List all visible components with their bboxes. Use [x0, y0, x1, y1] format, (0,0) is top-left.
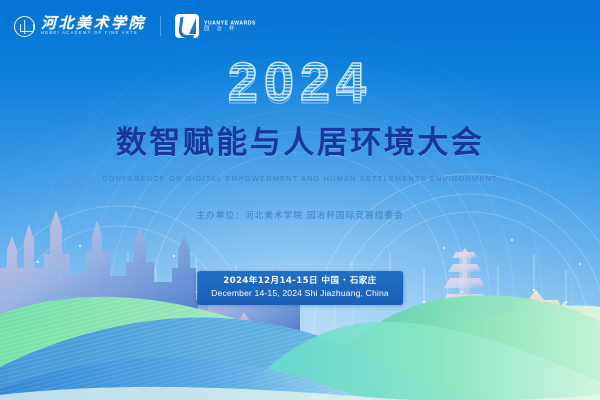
date-location-cn: 2024年12月14-15日 中国 · 石家庄: [211, 275, 389, 287]
page-subtitle-en: CONFERENCE ON DIGITAL EMPOWERMENT AND HU…: [0, 174, 600, 184]
header-logo-bar: 河北美术学院 HEBEI ACADEMY OF FINE ARTS YUANYE…: [0, 0, 600, 52]
yuanye-award-mark-icon: [175, 14, 199, 38]
academy-seal-icon: [14, 16, 35, 37]
date-location-badge: 2024年12月14-15日 中国 · 石家庄 December 14-15, …: [197, 271, 403, 305]
hebei-academy-logo[interactable]: 河北美术学院 HEBEI ACADEMY OF FINE ARTS: [14, 16, 146, 37]
year-heading: 2024 2024 2024 2024: [0, 52, 600, 114]
academy-name-cn: 河北美术学院: [41, 16, 146, 31]
yuanye-name-cn: 园 冶 杯: [204, 27, 256, 32]
academy-name-en: HEBEI ACADEMY OF FINE ARTS: [41, 32, 165, 36]
page-title: 数智赋能与人居环境大会: [0, 124, 600, 163]
conference-banner: 河北美术学院 HEBEI ACADEMY OF FINE ARTS YUANYE…: [0, 0, 600, 400]
svg-text:2024: 2024: [228, 55, 372, 114]
year-striped-art: 2024 2024 2024: [0, 52, 600, 114]
date-location-en: December 14-15, 2024 Shi Jiazhuang, Chin…: [211, 287, 389, 299]
yuanye-award-logo[interactable]: YUANYE AWARDS 园 冶 杯: [175, 14, 247, 38]
host-organizations: 主办单位：河北美术学院 园冶杯国际竞赛组委会: [0, 208, 600, 221]
